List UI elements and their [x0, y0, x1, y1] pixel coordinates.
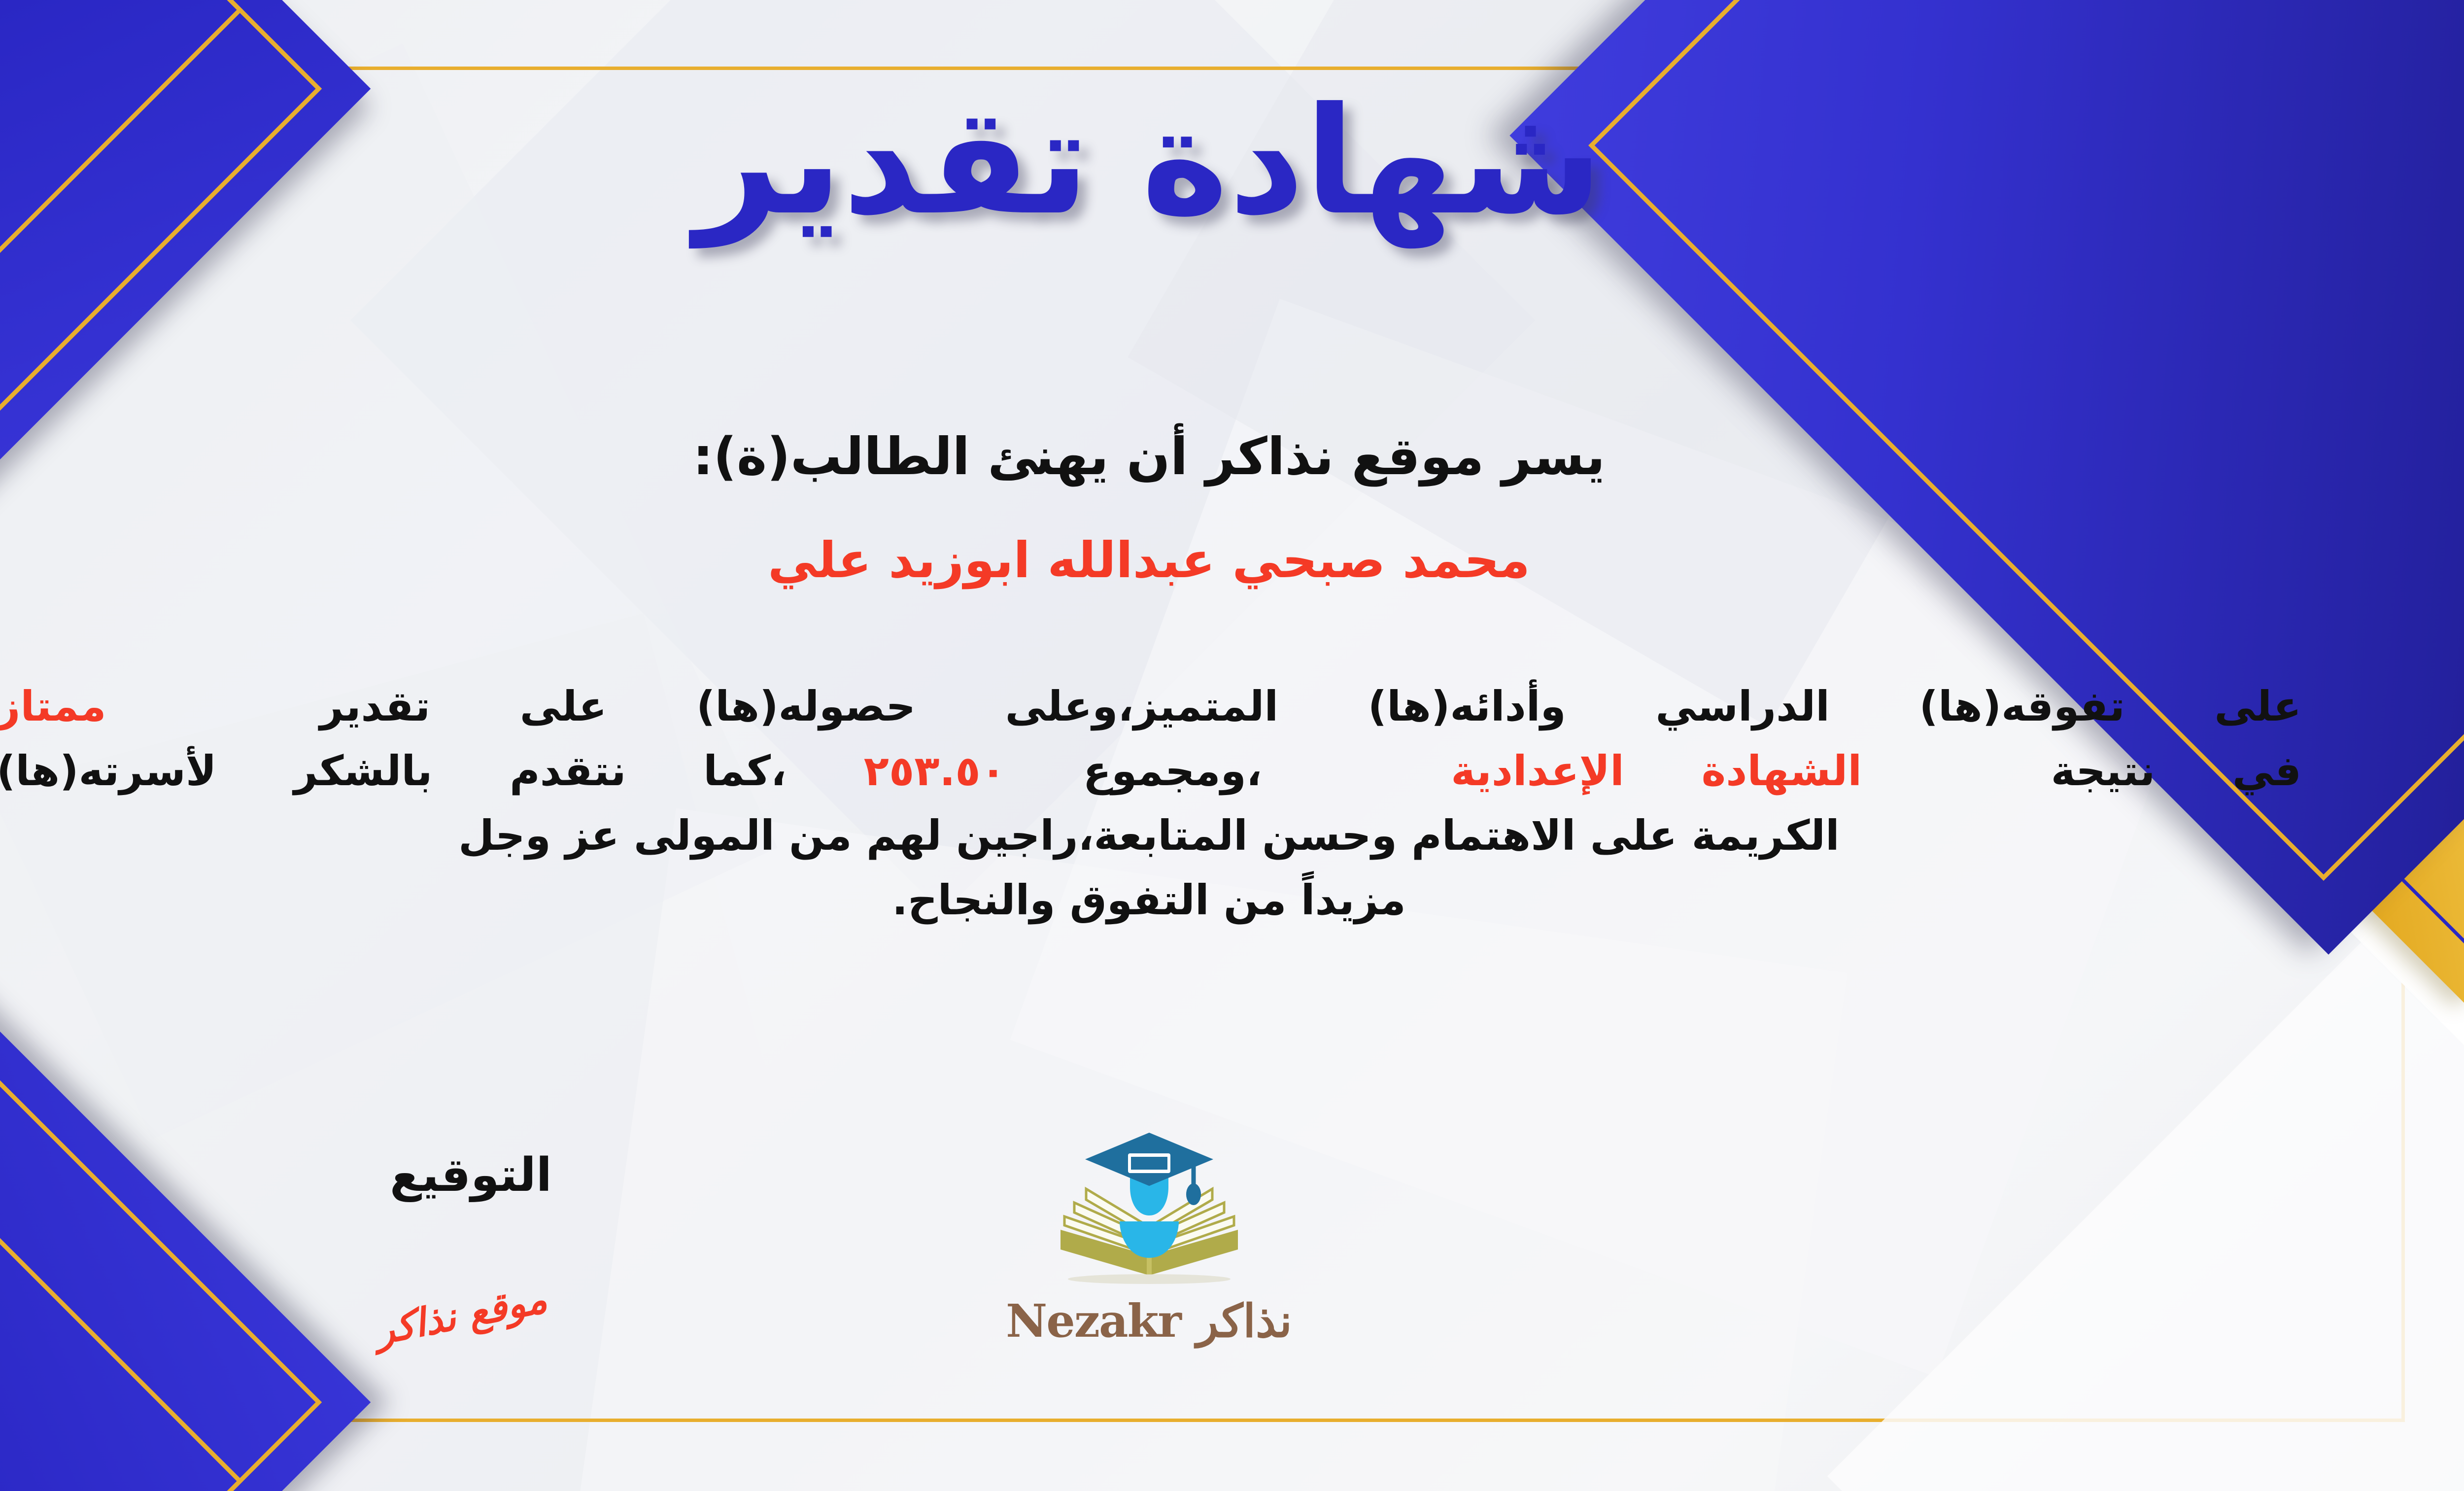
- signature-label: التوقيع: [390, 1148, 552, 1202]
- certificate-body: على تفوقه(ها) الدراسي وأدائه(ها) المتميز…: [0, 674, 2301, 933]
- body-line-1: على تفوقه(ها) الدراسي وأدائه(ها) المتميز…: [0, 674, 2301, 739]
- body-line-2: في نتيجة الشهادة الإعدادية ،ومجموع ٢٥٣.٥…: [0, 739, 2301, 803]
- body-line-2-prefix: في نتيجة: [2051, 747, 2301, 795]
- body-line-2-mid: ،ومجموع: [1083, 747, 1262, 795]
- graduation-book-icon: [1046, 1129, 1253, 1291]
- certificate-canvas: شهادة تقدير يسر موقع نذاكر أن يهنئ الطال…: [0, 0, 2464, 1491]
- signature-mark: موقع نذاكر: [372, 1277, 550, 1354]
- body-line-1-text: على تفوقه(ها) الدراسي وأدائه(ها) المتميز…: [320, 682, 2301, 730]
- brand-logo: نذاكر Nezakr: [957, 1129, 1341, 1348]
- student-name: محمد صبحي عبدالله ابوزيد علي: [0, 531, 2464, 589]
- logo-shadow: [1068, 1274, 1231, 1284]
- brand-wordmark: نذاكر Nezakr: [957, 1294, 1341, 1348]
- exam-name: الشهادة الإعدادية: [1451, 747, 1862, 795]
- total-score: ٢٥٣.٥٠: [864, 747, 1006, 795]
- body-line-2-suffix: ،كما نتقدم بالشكر لأسرته(ها): [0, 747, 787, 795]
- body-line-3: الكريمة على الاهتمام وحسن المتابعة،راجين…: [0, 803, 2301, 868]
- certificate-title: شهادة تقدير: [0, 76, 2464, 246]
- grade-value: ممتاز: [0, 682, 106, 730]
- congratulation-line: يسر موقع نذاكر أن يهنئ الطالب(ة):: [0, 426, 2464, 486]
- body-line-4: مزيداً من التفوق والنجاح.: [0, 868, 2301, 933]
